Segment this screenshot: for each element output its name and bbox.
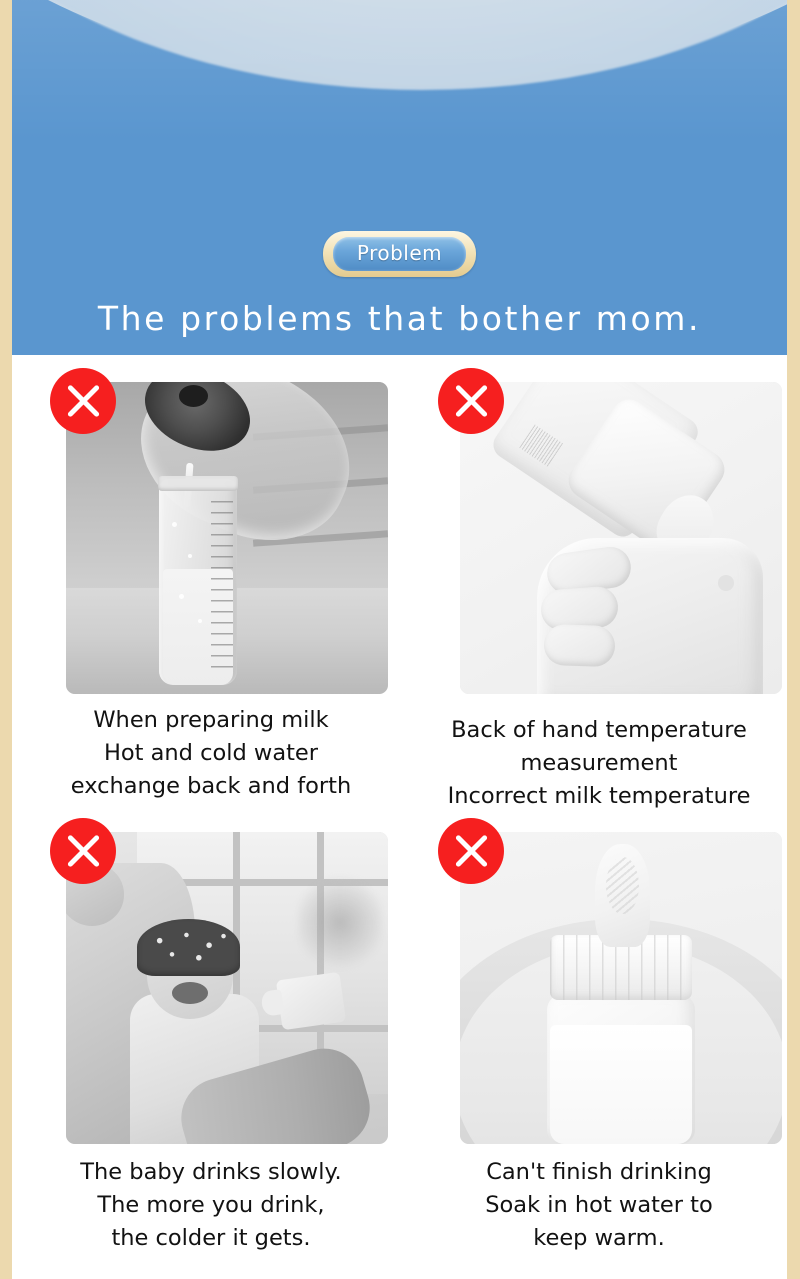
problem-badge-wrapper: Problem <box>12 231 787 277</box>
problem-badge-label: Problem <box>333 237 466 271</box>
problem-badge: Problem <box>323 231 476 277</box>
problem-card-grid: When preparing milk Hot and cold water e… <box>12 368 787 1268</box>
photo-wrapper <box>50 368 372 680</box>
card-caption: Can't finish drinking Soak in hot water … <box>412 1156 786 1255</box>
x-mark-icon <box>438 818 504 884</box>
photo-hand-temperature <box>460 382 782 694</box>
card-row: The baby drinks slowly. The more you dri… <box>12 818 787 1268</box>
photo-bottle-soaking <box>460 832 782 1144</box>
photo-wrapper <box>50 818 372 1130</box>
x-mark-icon <box>50 818 116 884</box>
x-mark-icon <box>438 368 504 434</box>
photo-crying-baby <box>66 832 388 1144</box>
problem-card-baby-drinks-slowly: The baby drinks slowly. The more you dri… <box>26 818 396 1130</box>
x-mark-icon <box>50 368 116 434</box>
scene-art <box>66 832 388 1144</box>
photo-kettle-pouring <box>66 382 388 694</box>
scene-art <box>66 382 388 694</box>
banner-arc-highlight <box>12 0 787 90</box>
product-detail-page: Problem The problems that bother mom. <box>0 0 800 1279</box>
problem-card-preparing-milk: When preparing milk Hot and cold water e… <box>26 368 396 680</box>
problem-card-hand-temperature-test: Back of hand temperature measurement Inc… <box>414 368 784 680</box>
scene-art <box>460 832 782 1144</box>
hero-banner: Problem The problems that bother mom. <box>12 0 787 355</box>
card-caption: The baby drinks slowly. The more you dri… <box>26 1156 396 1255</box>
problem-card-cant-finish-drinking: Can't finish drinking Soak in hot water … <box>414 818 784 1130</box>
photo-wrapper <box>438 818 760 1130</box>
page-title: The problems that bother mom. <box>12 296 787 342</box>
card-caption: Back of hand temperature measurement Inc… <box>412 714 786 813</box>
card-row: When preparing milk Hot and cold water e… <box>12 368 787 818</box>
content-column: Problem The problems that bother mom. <box>12 0 787 1279</box>
card-caption: When preparing milk Hot and cold water e… <box>26 704 396 803</box>
photo-wrapper <box>438 368 760 680</box>
scene-art <box>460 382 782 694</box>
